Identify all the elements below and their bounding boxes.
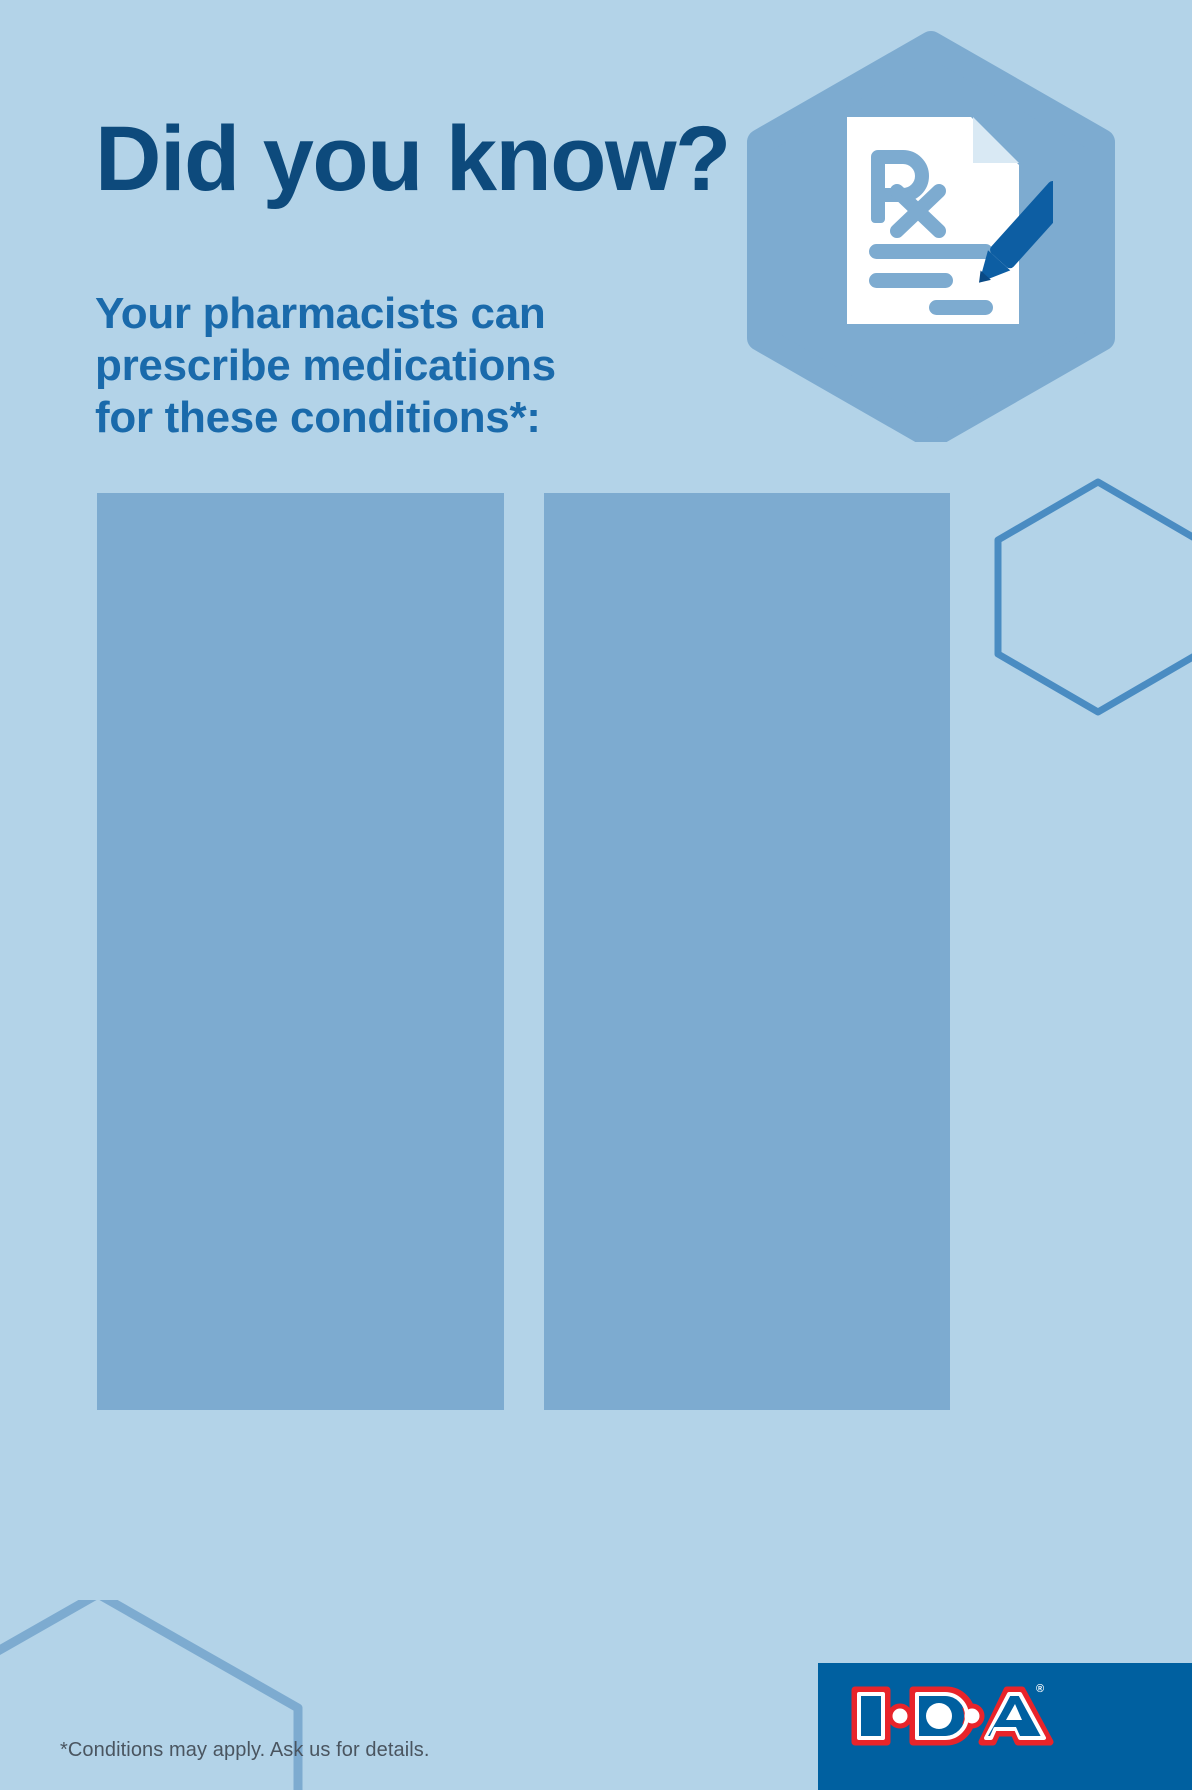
footnote: *Conditions may apply. Ask us for detail… (60, 1739, 430, 1762)
hexagon-badge (735, 22, 1192, 442)
registered-trademark-icon: ® (1036, 1683, 1044, 1695)
subheading-line-1: Your pharmacists can (95, 288, 556, 340)
conditions-panel-right (544, 493, 950, 1410)
ida-logo-block: ® (818, 1663, 1192, 1790)
page-title: Did you know? (95, 113, 730, 205)
conditions-panels (97, 493, 950, 1410)
conditions-panel-left (97, 493, 504, 1410)
poster-canvas: Did you know? Your pharmacists can presc… (0, 0, 1192, 1790)
ida-logo-icon (850, 1685, 1060, 1747)
subheading: Your pharmacists can prescribe medicatio… (95, 288, 556, 444)
rx-prescription-pad-with-pencil-icon (843, 113, 1053, 328)
subheading-line-2: prescribe medications (95, 340, 556, 392)
hexagon-outline-right (968, 432, 1192, 762)
subheading-line-3: for these conditions*: (95, 392, 556, 444)
